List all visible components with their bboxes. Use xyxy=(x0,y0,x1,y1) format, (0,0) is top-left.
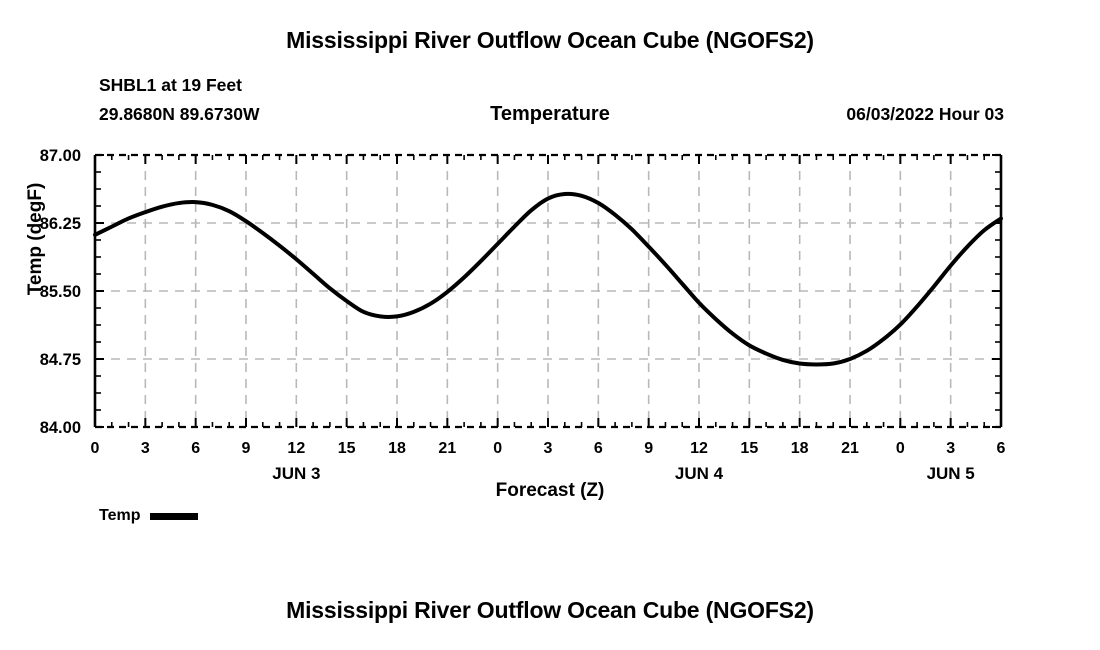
x-tick-label: 3 xyxy=(141,440,150,457)
chart-legend: Temp xyxy=(99,507,198,525)
y-tick-label: 85.50 xyxy=(40,283,81,301)
time-series-chart: 87.0086.2585.5084.7584.00036912151821036… xyxy=(0,0,1100,480)
x-tick-label: 9 xyxy=(644,440,653,457)
x-axis-label: Forecast (Z) xyxy=(0,480,1100,502)
y-tick-label: 84.00 xyxy=(40,419,81,437)
y-tick-label: 86.25 xyxy=(40,215,81,233)
x-tick-label: 18 xyxy=(388,440,406,457)
x-tick-label: 6 xyxy=(594,440,603,457)
x-day-label: JUN 5 xyxy=(927,464,975,480)
x-tick-label: 6 xyxy=(997,440,1006,457)
x-tick-label: 15 xyxy=(740,440,758,457)
x-tick-label: 21 xyxy=(438,440,456,457)
x-tick-label: 3 xyxy=(544,440,553,457)
x-tick-label: 0 xyxy=(896,440,905,457)
x-tick-label: 0 xyxy=(493,440,502,457)
x-tick-label: 21 xyxy=(841,440,859,457)
legend-line-swatch xyxy=(150,513,198,520)
y-tick-label: 84.75 xyxy=(40,351,81,369)
x-tick-label: 9 xyxy=(242,440,251,457)
x-day-label: JUN 4 xyxy=(675,464,724,480)
y-tick-label: 87.00 xyxy=(40,147,81,165)
x-tick-label: 15 xyxy=(338,440,356,457)
x-tick-label: 0 xyxy=(91,440,100,457)
x-tick-label: 6 xyxy=(191,440,200,457)
x-day-label: JUN 3 xyxy=(272,464,320,480)
x-tick-label: 3 xyxy=(946,440,955,457)
legend-item-label: Temp xyxy=(99,507,140,525)
page-title-bottom: Mississippi River Outflow Ocean Cube (NG… xyxy=(0,597,1100,624)
x-tick-label: 12 xyxy=(287,440,305,457)
x-tick-label: 18 xyxy=(791,440,809,457)
x-tick-label: 12 xyxy=(690,440,708,457)
